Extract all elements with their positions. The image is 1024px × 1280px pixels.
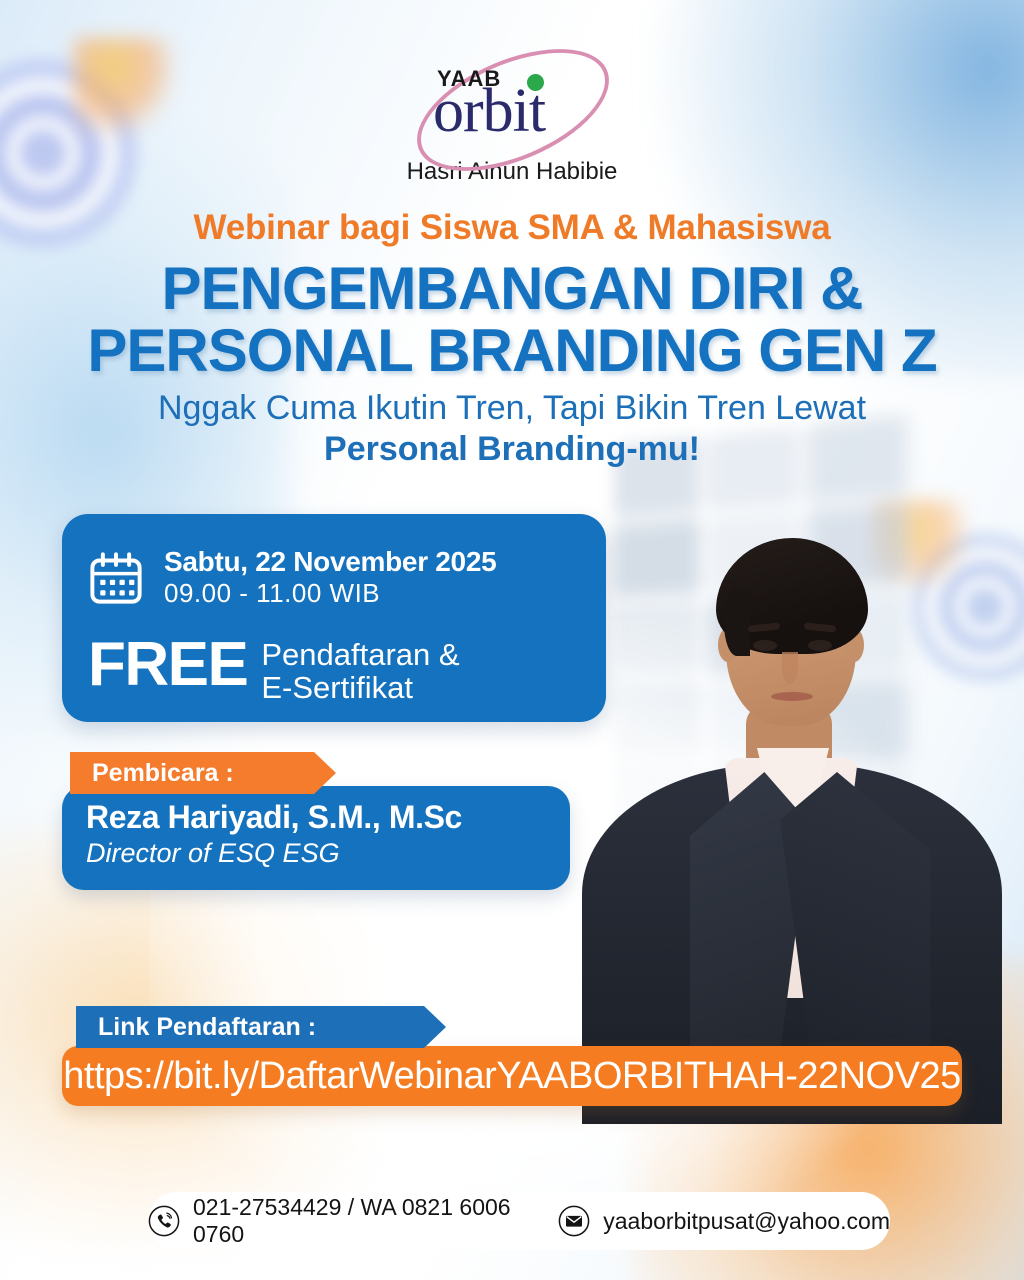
- title-line-1: PENGEMBANGAN DIRI &: [0, 258, 1024, 320]
- event-info-card: Sabtu, 22 November 2025 09.00 - 11.00 WI…: [62, 514, 606, 722]
- event-time: 09.00 - 11.00 WIB: [164, 578, 496, 609]
- speaker-tag: Pembicara :: [70, 752, 336, 794]
- page-title: PENGEMBANGAN DIRI & PERSONAL BRANDING GE…: [0, 258, 1024, 382]
- registration-url[interactable]: https://bit.ly/DaftarWebinarYAABORBITHAH…: [63, 1055, 960, 1098]
- phone-contact[interactable]: 021-27534429 / WA 0821 6006 0760: [148, 1194, 520, 1248]
- phone-number: 021-27534429 / WA 0821 6006 0760: [193, 1194, 520, 1248]
- green-dot-icon: [527, 74, 544, 91]
- eyebrow-text: Webinar bagi Siswa SMA & Mahasiswa: [0, 208, 1024, 248]
- organization-logo: YAAB orbit Hasri Ainun Habibie: [0, 52, 1024, 192]
- registration-tag: Link Pendaftaran :: [76, 1006, 446, 1048]
- subtitle-line-2: Personal Branding-mu!: [0, 429, 1024, 470]
- speaker-name: Reza Hariyadi, S.M., M.Sc: [86, 798, 570, 837]
- calendar-icon: [88, 550, 144, 606]
- free-desc-line-2: E-Sertifikat: [261, 671, 459, 704]
- envelope-icon: [558, 1205, 590, 1237]
- page-subtitle: Nggak Cuma Ikutin Tren, Tapi Bikin Tren …: [0, 388, 1024, 470]
- free-desc-line-1: Pendaftaran &: [261, 638, 459, 671]
- phone-icon: [148, 1205, 180, 1237]
- webinar-poster: YAAB orbit Hasri Ainun Habibie Webinar b…: [0, 0, 1024, 1280]
- event-date: Sabtu, 22 November 2025: [164, 546, 496, 578]
- free-row: FREE Pendaftaran & E-Sertifikat: [88, 636, 460, 705]
- speaker-role: Director of ESQ ESG: [86, 837, 570, 869]
- email-address: yaaborbitpusat@yahoo.com: [603, 1208, 890, 1235]
- date-time-block: Sabtu, 22 November 2025 09.00 - 11.00 WI…: [164, 546, 496, 609]
- free-label: FREE: [88, 636, 247, 693]
- title-line-2: PERSONAL BRANDING GEN Z: [0, 320, 1024, 382]
- contact-footer: 021-27534429 / WA 0821 6006 0760 yaaborb…: [148, 1192, 890, 1250]
- email-contact[interactable]: yaaborbitpusat@yahoo.com: [558, 1205, 890, 1237]
- speaker-portrait: [598, 472, 998, 1112]
- logo-mark: YAAB orbit: [397, 52, 627, 156]
- speaker-card: Reza Hariyadi, S.M., M.Sc Director of ES…: [62, 786, 570, 890]
- subtitle-line-1: Nggak Cuma Ikutin Tren, Tapi Bikin Tren …: [0, 388, 1024, 429]
- registration-link-bar[interactable]: https://bit.ly/DaftarWebinarYAABORBITHAH…: [62, 1046, 962, 1106]
- free-description: Pendaftaran & E-Sertifikat: [261, 636, 459, 705]
- date-time-row: Sabtu, 22 November 2025 09.00 - 11.00 WI…: [88, 546, 496, 609]
